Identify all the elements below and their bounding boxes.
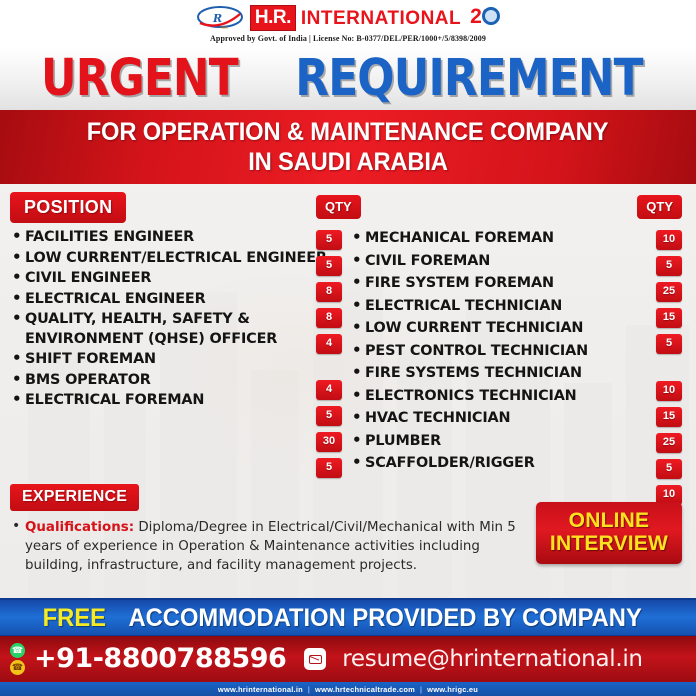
whatsapp-icon[interactable]: ☎ bbox=[10, 643, 25, 658]
list-item: LOW CURRENT/ELECTRICAL ENGINEER bbox=[10, 249, 350, 269]
govt-approval-text: Approved by Govt. of India | License No:… bbox=[0, 34, 696, 43]
list-item: PLUMBER bbox=[350, 431, 686, 453]
qty-badge: 8 bbox=[316, 282, 342, 302]
website-2[interactable]: www.hrtechnicaltrade.com bbox=[315, 685, 415, 694]
brand-logo-row: R भारत H.R. INTERNATIONAL 20 bbox=[0, 0, 696, 33]
list-item: ELECTRICAL ENGINEER bbox=[10, 290, 350, 310]
contact-bar: ☎ ☎ +91-8800788596 resume@hrinternationa… bbox=[0, 636, 696, 682]
list-item: ELECTRICAL FOREMAN bbox=[10, 391, 350, 411]
poster-header: R भारत H.R. INTERNATIONAL 20 Approved by… bbox=[0, 0, 696, 48]
positions-columns: FACILITIES ENGINEER LOW CURRENT/ELECTRIC… bbox=[10, 228, 686, 476]
qty-badge: 10 bbox=[656, 230, 682, 250]
qty-badge: 8 bbox=[316, 308, 342, 328]
svg-text:R: R bbox=[212, 12, 222, 25]
qty-badge: 5 bbox=[316, 458, 342, 478]
phone-icons-group: ☎ ☎ bbox=[10, 643, 25, 675]
online-interview-line-2: INTERVIEW bbox=[550, 532, 668, 555]
free-accommodation-banner: FREE ACCOMMODATION PROVIDED BY COMPANY bbox=[0, 598, 696, 636]
qty-badge: 25 bbox=[656, 282, 682, 302]
qualifications-text: Qualifications: Diploma/Degree in Electr… bbox=[10, 518, 520, 575]
website-strip: www.hrinternational.in | www.hrtechnical… bbox=[0, 682, 696, 696]
qty-badge: 4 bbox=[316, 380, 342, 400]
email-address[interactable]: resume@hrinternational.in bbox=[342, 647, 642, 672]
hr-swoosh-logo-icon: R भारत bbox=[196, 5, 244, 32]
list-item: LOW CURRENT TECHNICIAN bbox=[350, 318, 686, 340]
subtitle-line-1: FOR OPERATION & MAINTENANCE COMPANY bbox=[87, 117, 609, 147]
qty-header-badge-right: QTY bbox=[637, 195, 682, 219]
list-item: ELECTRONICS TECHNICIAN bbox=[350, 386, 686, 408]
headline-band: URGENT REQUIREMENT bbox=[0, 48, 696, 110]
email-icon[interactable] bbox=[304, 648, 326, 670]
recruitment-poster: R भारत H.R. INTERNATIONAL 20 Approved by… bbox=[0, 0, 696, 696]
list-item: SCAFFOLDER/RIGGER bbox=[350, 453, 686, 475]
qty-badge: 15 bbox=[656, 407, 682, 427]
qty-badge: 5 bbox=[316, 256, 342, 276]
positions-content: POSITION QTY QTY FACILITIES ENGINEER LOW… bbox=[0, 184, 696, 598]
phone-icon[interactable]: ☎ bbox=[10, 660, 25, 675]
list-item: PEST CONTROL TECHNICIAN bbox=[350, 341, 686, 363]
experience-section: EXPERIENCE Qualifications: Diploma/Degre… bbox=[10, 484, 686, 575]
table-header-row: POSITION QTY QTY bbox=[10, 190, 686, 224]
qualifications-label: Qualifications: bbox=[25, 520, 134, 535]
list-item: FIRE SYSTEMS TECHNICIAN bbox=[350, 363, 686, 385]
qty-stack-right: 10 5 25 15 5 10 15 25 5 10 bbox=[656, 228, 682, 505]
qty-badge: 5 bbox=[656, 459, 682, 479]
brand-hr-text: H.R. bbox=[250, 5, 296, 31]
qty-badge: 15 bbox=[656, 308, 682, 328]
positions-section: POSITION QTY QTY FACILITIES ENGINEER LOW… bbox=[0, 184, 696, 598]
online-interview-line-1: ONLINE bbox=[550, 509, 668, 532]
accommodation-text: ACCOMMODATION PROVIDED BY COMPANY bbox=[129, 605, 642, 631]
experience-badge: EXPERIENCE bbox=[10, 484, 139, 511]
positions-column-left: FACILITIES ENGINEER LOW CURRENT/ELECTRIC… bbox=[10, 228, 350, 476]
qty-badge: 5 bbox=[316, 230, 342, 250]
anniversary-20-icon: 20 bbox=[470, 5, 500, 31]
headline-urgent: URGENT bbox=[41, 53, 238, 105]
qty-badge: 5 bbox=[656, 256, 682, 276]
brand-wordmark: H.R. INTERNATIONAL bbox=[250, 6, 461, 30]
website-1[interactable]: www.hrinternational.in bbox=[218, 685, 303, 694]
list-item: CIVIL FOREMAN bbox=[350, 251, 686, 273]
list-item: QUALITY, HEALTH, SAFETY & ENVIRONMENT (Q… bbox=[10, 310, 350, 349]
qty-badge: 25 bbox=[656, 433, 682, 453]
position-list-right: MECHANICAL FOREMAN CIVIL FOREMAN FIRE SY… bbox=[350, 228, 686, 475]
brand-international-text: INTERNATIONAL bbox=[296, 8, 461, 29]
free-keyword: FREE bbox=[42, 605, 105, 631]
position-list-left: FACILITIES ENGINEER LOW CURRENT/ELECTRIC… bbox=[10, 228, 350, 411]
svg-text:भारत: भारत bbox=[220, 25, 228, 30]
list-item: FIRE SYSTEM FOREMAN bbox=[350, 273, 686, 295]
subtitle-line-2: IN SAUDI ARABIA bbox=[248, 147, 447, 177]
qty-stack-left: 5 5 8 8 4 4 5 30 5 bbox=[316, 228, 342, 478]
headline-requirement: REQUIREMENT bbox=[296, 53, 643, 105]
positions-column-right: MECHANICAL FOREMAN CIVIL FOREMAN FIRE SY… bbox=[350, 228, 686, 476]
website-3[interactable]: www.hrigc.eu bbox=[427, 685, 478, 694]
list-item: SHIFT FOREMAN bbox=[10, 350, 350, 370]
list-item: BMS OPERATOR bbox=[10, 371, 350, 391]
list-item: CIVIL ENGINEER bbox=[10, 269, 350, 289]
list-item: FACILITIES ENGINEER bbox=[10, 228, 350, 248]
qty-badge: 30 bbox=[316, 432, 342, 452]
qty-badge: 10 bbox=[656, 381, 682, 401]
qty-header-badge-left: QTY bbox=[316, 195, 361, 219]
list-item: ELECTRICAL TECHNICIAN bbox=[350, 296, 686, 318]
qty-badge: 5 bbox=[316, 406, 342, 426]
qty-badge: 4 bbox=[316, 334, 342, 354]
phone-number[interactable]: +91-8800788596 bbox=[34, 645, 286, 673]
anniversary-ring bbox=[482, 7, 500, 25]
website-separator-1: | bbox=[308, 685, 310, 694]
list-item: HVAC TECHNICIAN bbox=[350, 408, 686, 430]
online-interview-badge: ONLINE INTERVIEW bbox=[536, 502, 682, 564]
list-item: MECHANICAL FOREMAN bbox=[350, 228, 686, 250]
subtitle-band: FOR OPERATION & MAINTENANCE COMPANY IN S… bbox=[0, 110, 696, 184]
website-separator-2: | bbox=[420, 685, 422, 694]
qty-badge: 5 bbox=[656, 334, 682, 354]
position-header-badge: POSITION bbox=[10, 192, 126, 223]
